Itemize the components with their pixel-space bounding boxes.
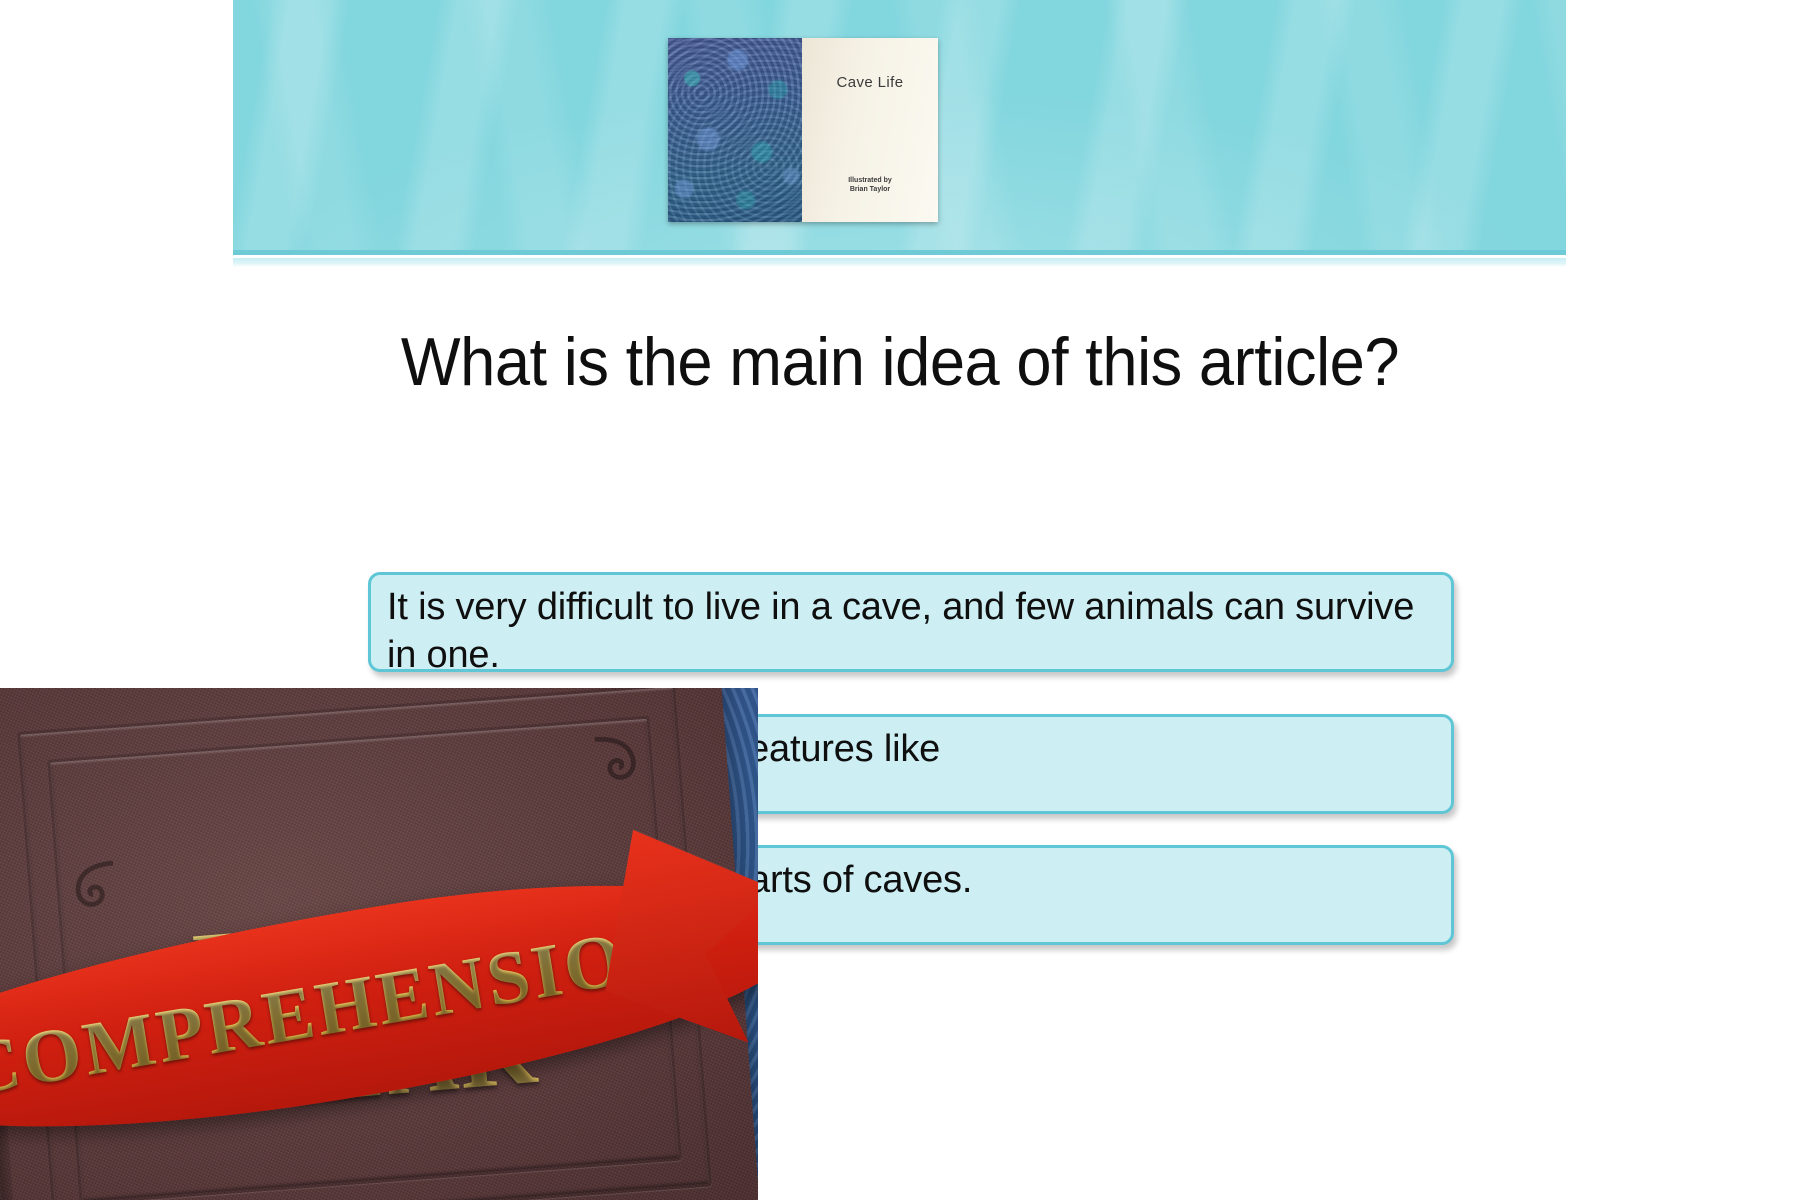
slide-canvas: Cave Life Illustrated by Brian Taylor Wh… — [0, 0, 1800, 1200]
book-cover-illustrator-prefix: Illustrated by — [802, 176, 938, 185]
banner-divider-line — [233, 250, 1566, 255]
question-text: What is the main idea of this article? — [342, 320, 1458, 404]
book-cover-image: Cave Life Illustrated by Brian Taylor — [668, 38, 938, 222]
book-break-overlay-image: BOOK BREAK COMPREHENSION — [0, 688, 758, 1200]
banner-divider-soft-strip — [233, 258, 1566, 267]
book-cover-title-panel: Cave Life Illustrated by Brian Taylor — [802, 38, 938, 222]
leather-book-graphic: BOOK BREAK COMPREHENSION — [0, 688, 758, 1200]
book-cover-title: Cave Life — [802, 74, 938, 91]
scroll-ornament-icon — [62, 857, 124, 919]
scroll-ornament-icon — [587, 730, 649, 792]
book-cover-illustrator: Illustrated by Brian Taylor — [802, 176, 938, 194]
answer-choice-a-label: It is very difficult to live in a cave, … — [387, 586, 1414, 676]
answer-choice-a[interactable]: It is very difficult to live in a cave, … — [368, 572, 1454, 672]
header-banner: Cave Life Illustrated by Brian Taylor — [233, 0, 1566, 250]
book-cover-illustrator-name: Brian Taylor — [802, 185, 938, 194]
book-cover-marbled-panel — [668, 38, 802, 222]
